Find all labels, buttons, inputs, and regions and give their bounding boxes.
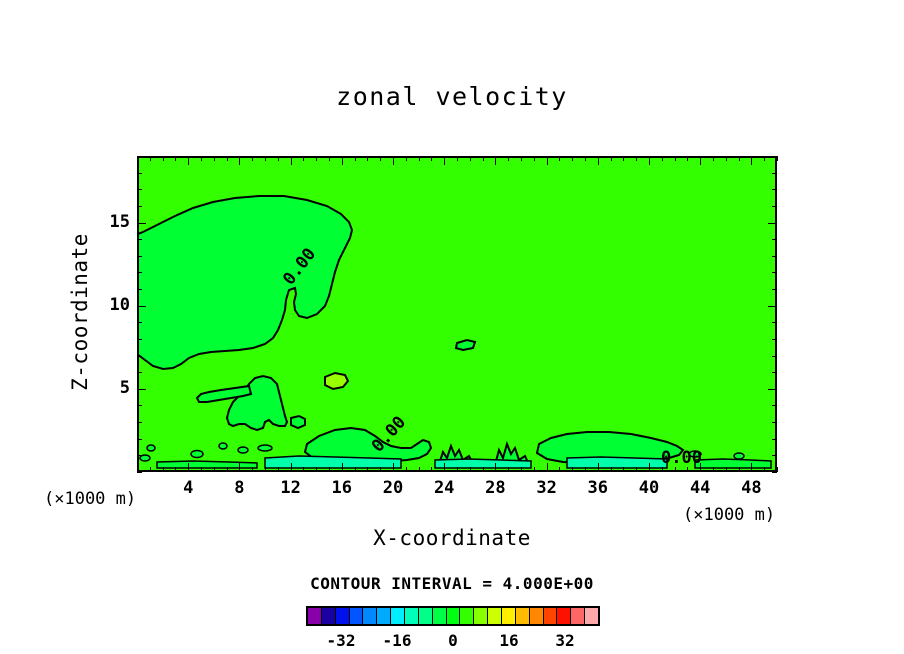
x-major-tick: [188, 156, 189, 165]
x-major-tick: [393, 463, 394, 472]
x-tick-label: 12: [271, 478, 311, 498]
x-minor-tick: [431, 467, 432, 472]
x-minor-tick: [316, 467, 317, 472]
colorbar-swatch[interactable]: [377, 608, 391, 624]
colorbar-swatch[interactable]: [405, 608, 419, 624]
x-axis-units-label: (×1000 m): [683, 505, 775, 525]
x-major-tick: [751, 463, 752, 472]
colorbar-tick-label: 0: [428, 631, 478, 650]
x-minor-tick: [252, 156, 253, 161]
y-minor-tick: [772, 439, 777, 440]
x-major-tick: [393, 156, 394, 165]
colorbar[interactable]: [306, 606, 600, 626]
y-major-tick: [137, 389, 146, 390]
colorbar-swatch[interactable]: [557, 608, 571, 624]
x-minor-tick: [687, 467, 688, 472]
y-minor-tick: [772, 472, 777, 473]
x-major-tick: [291, 156, 292, 165]
x-major-tick: [700, 156, 701, 165]
y-minor-tick: [772, 239, 777, 240]
x-minor-tick: [303, 156, 304, 161]
x-minor-tick: [534, 467, 535, 472]
x-minor-tick: [150, 467, 151, 472]
x-minor-tick: [777, 467, 778, 472]
x-minor-tick: [623, 156, 624, 161]
x-major-tick: [598, 463, 599, 472]
x-minor-tick: [457, 156, 458, 161]
x-major-tick: [547, 463, 548, 472]
y-minor-tick: [137, 405, 142, 406]
colorbar-swatch[interactable]: [544, 608, 558, 624]
contour-field-svg: 0.00 0.00 0.00: [139, 158, 775, 470]
x-minor-tick: [572, 467, 573, 472]
y-minor-tick: [772, 272, 777, 273]
x-major-tick: [495, 463, 496, 472]
x-minor-tick: [585, 467, 586, 472]
x-minor-tick: [508, 467, 509, 472]
colorbar-swatch[interactable]: [516, 608, 530, 624]
y-minor-tick: [137, 173, 142, 174]
x-major-tick: [547, 156, 548, 165]
x-minor-tick: [367, 156, 368, 161]
colorbar-swatch[interactable]: [530, 608, 544, 624]
y-minor-tick: [772, 289, 777, 290]
y-minor-tick: [137, 322, 142, 323]
y-minor-tick: [772, 206, 777, 207]
y-minor-tick: [772, 339, 777, 340]
x-minor-tick: [508, 156, 509, 161]
x-minor-tick: [329, 156, 330, 161]
x-minor-tick: [611, 467, 612, 472]
colorbar-swatch[interactable]: [447, 608, 461, 624]
y-minor-tick: [137, 356, 142, 357]
colorbar-swatch[interactable]: [571, 608, 585, 624]
contour-interval-label: CONTOUR INTERVAL = 4.000E+00: [0, 574, 904, 593]
y-minor-tick: [772, 455, 777, 456]
y-minor-tick: [137, 372, 142, 373]
x-minor-tick: [265, 467, 266, 472]
x-minor-tick: [483, 467, 484, 472]
x-minor-tick: [470, 156, 471, 161]
colorbar-swatch[interactable]: [419, 608, 433, 624]
page-title: zonal velocity: [0, 82, 904, 111]
y-axis-title: Z-coordinate: [68, 202, 92, 422]
x-major-tick: [239, 463, 240, 472]
x-minor-tick: [201, 467, 202, 472]
x-tick-label: 8: [219, 478, 259, 498]
x-minor-tick: [559, 156, 560, 161]
colorbar-swatch[interactable]: [460, 608, 474, 624]
x-minor-tick: [662, 156, 663, 161]
x-minor-tick: [713, 467, 714, 472]
x-minor-tick: [521, 156, 522, 161]
x-minor-tick: [252, 467, 253, 472]
x-tick-label: 4: [168, 478, 208, 498]
y-major-tick: [768, 306, 777, 307]
x-minor-tick: [163, 156, 164, 161]
x-minor-tick: [572, 156, 573, 161]
x-minor-tick: [406, 156, 407, 161]
y-major-tick: [768, 389, 777, 390]
y-tick-label: 10: [98, 295, 130, 315]
x-minor-tick: [355, 467, 356, 472]
colorbar-swatch[interactable]: [350, 608, 364, 624]
colorbar-swatch[interactable]: [585, 608, 598, 624]
y-tick-label: 15: [98, 212, 130, 232]
x-major-tick: [188, 463, 189, 472]
x-minor-tick: [521, 467, 522, 472]
y-minor-tick: [137, 239, 142, 240]
x-minor-tick: [764, 467, 765, 472]
colorbar-swatch[interactable]: [391, 608, 405, 624]
y-minor-tick: [137, 289, 142, 290]
x-minor-tick: [175, 156, 176, 161]
x-minor-tick: [380, 156, 381, 161]
region-small-negative-blob: [291, 416, 305, 428]
y-minor-tick: [772, 422, 777, 423]
colorbar-swatch[interactable]: [308, 608, 322, 624]
x-minor-tick: [470, 467, 471, 472]
x-tick-label: 28: [475, 478, 515, 498]
x-tick-label: 36: [578, 478, 618, 498]
contour-plot-area[interactable]: 0.00 0.00 0.00: [137, 156, 777, 472]
y-minor-tick: [137, 472, 142, 473]
y-minor-tick: [137, 256, 142, 257]
x-minor-tick: [585, 156, 586, 161]
x-major-tick: [444, 156, 445, 165]
y-minor-tick: [772, 322, 777, 323]
x-major-tick: [342, 463, 343, 472]
y-minor-tick: [137, 156, 142, 157]
y-minor-tick: [772, 173, 777, 174]
x-major-tick: [649, 463, 650, 472]
x-minor-tick: [636, 467, 637, 472]
x-major-tick: [342, 156, 343, 165]
y-minor-tick: [137, 439, 142, 440]
x-minor-tick: [265, 156, 266, 161]
x-minor-tick: [726, 156, 727, 161]
x-tick-label: 32: [527, 478, 567, 498]
x-tick-label: 16: [322, 478, 362, 498]
y-minor-tick: [772, 156, 777, 157]
colorbar-swatch[interactable]: [488, 608, 502, 624]
y-minor-tick: [772, 372, 777, 373]
x-major-tick: [291, 463, 292, 472]
x-major-tick: [649, 156, 650, 165]
y-minor-tick: [137, 455, 142, 456]
y-minor-tick: [772, 256, 777, 257]
x-tick-label: 40: [629, 478, 669, 498]
x-minor-tick: [675, 467, 676, 472]
colorbar-swatch[interactable]: [474, 608, 488, 624]
x-minor-tick: [278, 156, 279, 161]
x-minor-tick: [175, 467, 176, 472]
x-minor-tick: [726, 467, 727, 472]
x-minor-tick: [419, 467, 420, 472]
x-minor-tick: [214, 467, 215, 472]
x-minor-tick: [739, 156, 740, 161]
x-minor-tick: [227, 156, 228, 161]
region-floating-negative-speck: [456, 340, 475, 350]
colorbar-swatch[interactable]: [322, 608, 336, 624]
x-minor-tick: [431, 156, 432, 161]
y-axis-units-label: (×1000 m): [44, 489, 136, 509]
x-minor-tick: [163, 467, 164, 472]
colorbar-tick-label: -32: [316, 631, 366, 650]
x-minor-tick: [687, 156, 688, 161]
x-minor-tick: [534, 156, 535, 161]
x-minor-tick: [611, 156, 612, 161]
contour-label-0-right: 0.00: [661, 448, 702, 468]
x-tick-label: 24: [424, 478, 464, 498]
colorbar-swatch[interactable]: [502, 608, 516, 624]
y-major-tick: [137, 223, 146, 224]
x-minor-tick: [329, 467, 330, 472]
colorbar-tick-label: -16: [372, 631, 422, 650]
x-minor-tick: [777, 156, 778, 161]
x-minor-tick: [419, 156, 420, 161]
x-axis-title: X-coordinate: [0, 526, 904, 550]
x-minor-tick: [316, 156, 317, 161]
x-minor-tick: [739, 467, 740, 472]
colorbar-swatch[interactable]: [336, 608, 350, 624]
y-minor-tick: [137, 422, 142, 423]
x-tick-label: 48: [731, 478, 771, 498]
x-minor-tick: [278, 467, 279, 472]
colorbar-swatch[interactable]: [433, 608, 447, 624]
colorbar-swatch[interactable]: [363, 608, 377, 624]
x-minor-tick: [214, 156, 215, 161]
x-minor-tick: [201, 156, 202, 161]
x-minor-tick: [764, 156, 765, 161]
x-major-tick: [495, 156, 496, 165]
x-minor-tick: [457, 467, 458, 472]
y-minor-tick: [137, 272, 142, 273]
x-minor-tick: [355, 156, 356, 161]
y-minor-tick: [772, 356, 777, 357]
x-major-tick: [444, 463, 445, 472]
y-tick-label: 5: [98, 378, 130, 398]
x-major-tick: [239, 156, 240, 165]
x-major-tick: [700, 463, 701, 472]
colorbar-tick-label: 32: [540, 631, 590, 650]
x-minor-tick: [483, 156, 484, 161]
x-major-tick: [751, 156, 752, 165]
y-minor-tick: [137, 189, 142, 190]
x-minor-tick: [662, 467, 663, 472]
y-major-tick: [768, 223, 777, 224]
y-minor-tick: [772, 405, 777, 406]
x-minor-tick: [623, 467, 624, 472]
x-minor-tick: [367, 467, 368, 472]
x-tick-label: 20: [373, 478, 413, 498]
x-minor-tick: [303, 467, 304, 472]
x-minor-tick: [380, 467, 381, 472]
x-minor-tick: [636, 156, 637, 161]
y-minor-tick: [137, 206, 142, 207]
y-major-tick: [137, 306, 146, 307]
y-minor-tick: [772, 189, 777, 190]
region-small-positive-blob: [325, 373, 348, 389]
x-major-tick: [598, 156, 599, 165]
x-minor-tick: [406, 467, 407, 472]
x-minor-tick: [227, 467, 228, 472]
x-minor-tick: [559, 467, 560, 472]
x-minor-tick: [150, 156, 151, 161]
x-tick-label: 44: [680, 478, 720, 498]
x-minor-tick: [713, 156, 714, 161]
colorbar-tick-label: 16: [484, 631, 534, 650]
x-minor-tick: [675, 156, 676, 161]
y-minor-tick: [137, 339, 142, 340]
